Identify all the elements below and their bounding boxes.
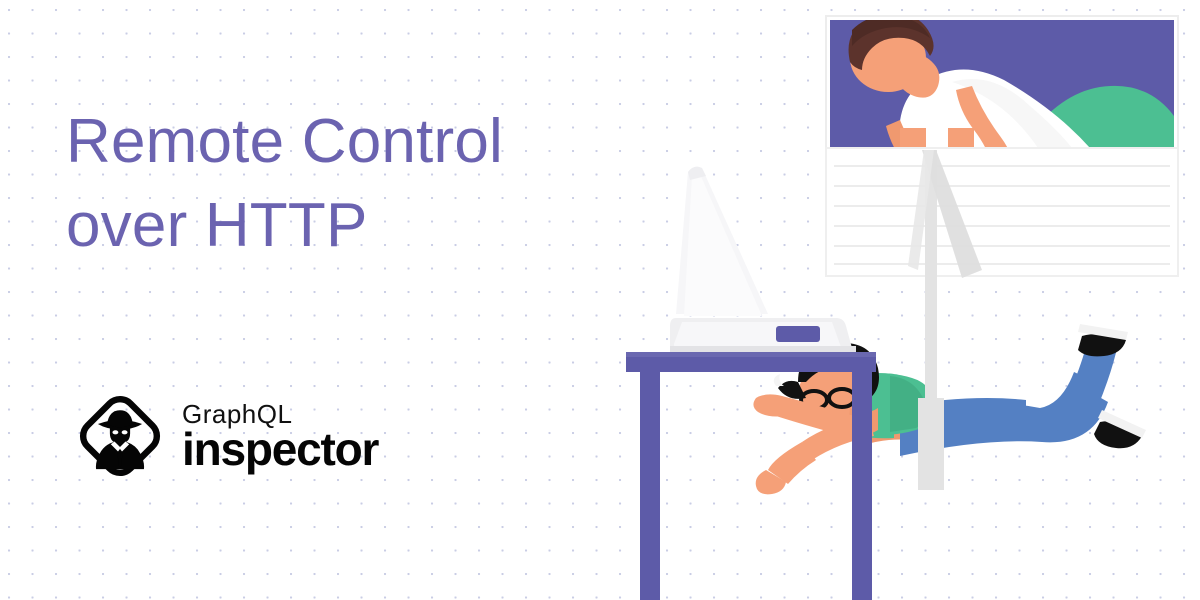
detective-diamond-icon <box>74 390 166 482</box>
brand-wordmark-inspector: inspector <box>182 426 378 472</box>
hero-illustration <box>600 0 1200 600</box>
brand-wordmark: GraphQL inspector <box>182 400 378 472</box>
promo-banner: Remote Control over HTTP <box>0 0 1200 600</box>
brand-logo: GraphQL inspector <box>74 388 378 484</box>
document-sheet <box>826 148 1178 276</box>
page-title: Remote Control over HTTP <box>66 100 586 268</box>
